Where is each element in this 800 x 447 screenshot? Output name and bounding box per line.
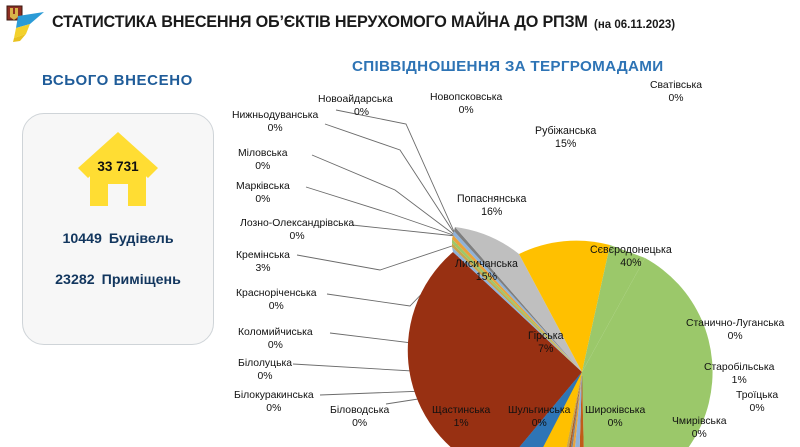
buildings-value: 10449 xyxy=(62,231,101,247)
pie-outlabel-bilovodska: Біловодська 0% xyxy=(330,405,389,430)
ukraine-coat-of-arms-flag-logo xyxy=(4,4,48,42)
pie-outlabel-milovska: Міловська 0% xyxy=(238,148,288,173)
pie-outlabel-stanychno-luhanska: Станично-Луганська 0% xyxy=(686,318,784,343)
pie-label-hirska: Гірська 7% xyxy=(528,330,564,357)
pie-label-rubizhanska: Рубіжанська 15% xyxy=(535,125,596,152)
pie-outlabel-troitska: Троїцька 0% xyxy=(736,390,778,415)
leader-lines-left xyxy=(293,110,486,395)
pie-outlabel-shyrokivska: Широківська 0% xyxy=(585,405,645,430)
pie-label-lysychanska: Лисичанська 15% xyxy=(455,258,518,285)
pie-outlabel-markivska: Марківська 0% xyxy=(236,181,290,206)
pie-outlabel-kreminska: Кремінська 3% xyxy=(236,250,290,275)
summary-title: ВСЬОГО ВНЕСЕНО xyxy=(42,72,193,89)
buildings-label: Будівель xyxy=(109,231,174,247)
pie-label-popasnianska: Попаснянська 16% xyxy=(457,193,526,220)
pie-outlabel-kolomyichyska: Коломийчиська 0% xyxy=(238,327,313,352)
pie-outlabel-chmyrivska: Чмирівська 0% xyxy=(672,416,727,441)
pie-outlabel-krasnorichenska: Красноріченська 0% xyxy=(236,288,317,313)
pie-outlabel-nyzhnoduvanska: Нижньодуванська 0% xyxy=(232,110,318,135)
buildings-stat: 10449Будівель xyxy=(22,231,214,247)
pie-outlabel-bilokurakynska: Білокуракинська 0% xyxy=(234,390,314,415)
dashboard-page: СТАТИСТИКА ВНЕСЕННЯ ОБ’ЄКТІВ НЕРУХОМОГО … xyxy=(0,0,800,447)
pie-outlabel-novopskovska: Новопсковська 0% xyxy=(430,92,502,117)
pie-outlabel-svativska: Сватівська 0% xyxy=(650,80,702,105)
page-title: СТАТИСТИКА ВНЕСЕННЯ ОБ’ЄКТІВ НЕРУХОМОГО … xyxy=(52,13,588,32)
premises-label: Приміщень xyxy=(102,272,181,288)
pie-outlabel-starobilska: Старобільська 1% xyxy=(704,362,774,387)
pie-outlabel-shchastynska: Щастинська 1% xyxy=(432,405,490,430)
premises-stat: 23282Приміщень xyxy=(22,272,214,288)
pie-outlabel-bilolutska: Білолуцька 0% xyxy=(238,358,292,383)
chart-title: СПІВВІДНОШЕННЯ ЗА ТЕРГРОМАДАМИ xyxy=(352,58,663,75)
page-header: СТАТИСТИКА ВНЕСЕННЯ ОБ’ЄКТІВ НЕРУХОМОГО … xyxy=(0,0,800,46)
pie-label-sievierodonetska: Сєвєродонецька 40% xyxy=(590,244,672,271)
pie-outlabel-novoaidarska: Новоайдарська 0% xyxy=(318,94,393,119)
pie-outlabel-shulhynska: Шульгинська 0% xyxy=(508,405,570,430)
pie-outlabel-lozno-oleksandrivska: Лозно-Олександрівська 0% xyxy=(240,218,354,243)
premises-value: 23282 xyxy=(55,272,94,288)
header-date-note: (на 06.11.2023) xyxy=(594,19,675,31)
total-objects-count: 33 731 xyxy=(22,159,214,174)
